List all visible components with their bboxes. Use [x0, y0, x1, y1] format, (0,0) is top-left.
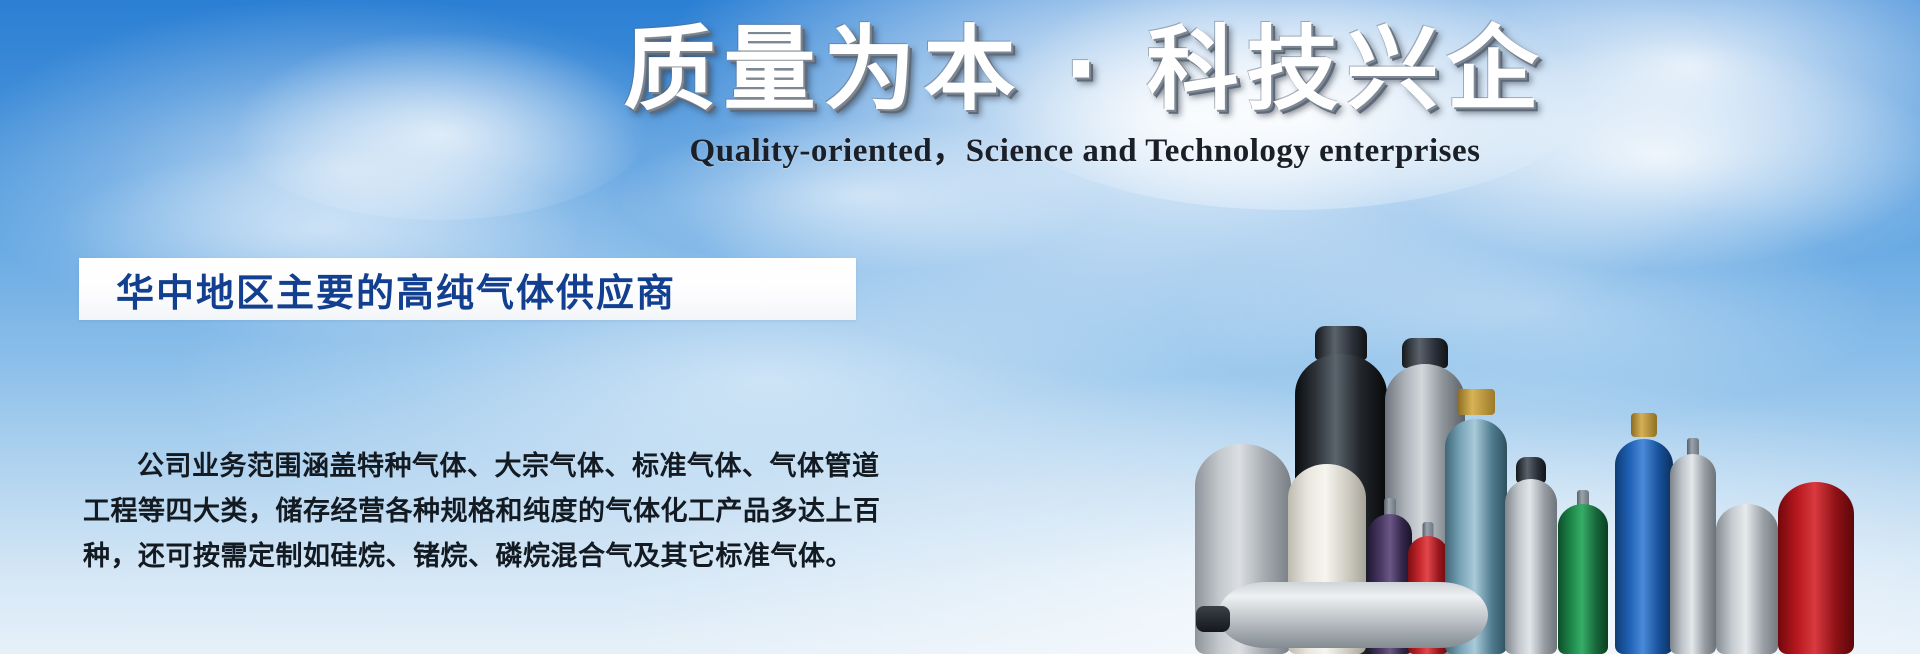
- green-cap-cylinder: [1558, 504, 1608, 654]
- paragraph-line: 种，还可按需定制如硅烷、锗烷、磷烷混合气及其它标准气体。: [83, 534, 873, 579]
- red-cylinder: [1778, 482, 1854, 654]
- tall-silver-cylinder: [1670, 454, 1716, 654]
- brass-valve-icon: [1457, 389, 1495, 415]
- headline-block: 质量为本 · 科技兴企 Quality-oriented，Science and…: [0, 18, 1920, 171]
- gas-cylinder-group: [1200, 234, 1920, 654]
- promotional-banner: 质量为本 · 科技兴企 Quality-oriented，Science and…: [0, 0, 1920, 654]
- page-title: 质量为本 · 科技兴企: [373, 18, 1546, 121]
- paragraph-line: 公司业务范围涵盖特种气体、大宗气体、标准气体、气体管道: [83, 444, 873, 489]
- silver-cylinder: [1505, 479, 1557, 654]
- blue-cylinder: [1615, 439, 1673, 654]
- paragraph-line: 工程等四大类，储存经营各种规格和纯度的气体化工产品多达上百: [83, 489, 873, 534]
- brass-valve-icon: [1631, 413, 1657, 437]
- description-paragraph: 公司业务范围涵盖特种气体、大宗气体、标准气体、气体管道 工程等四大类，储存经营各…: [83, 444, 873, 579]
- horizontal-tank-valve: [1196, 606, 1230, 632]
- tagline-text: 华中地区主要的高纯气体供应商: [79, 262, 676, 317]
- silver-wide-cylinder: [1716, 504, 1778, 654]
- horizontal-tank: [1218, 582, 1488, 648]
- tagline-highlight-box: 华中地区主要的高纯气体供应商: [79, 258, 856, 320]
- page-subtitle: Quality-oriented，Science and Technology …: [0, 123, 1920, 171]
